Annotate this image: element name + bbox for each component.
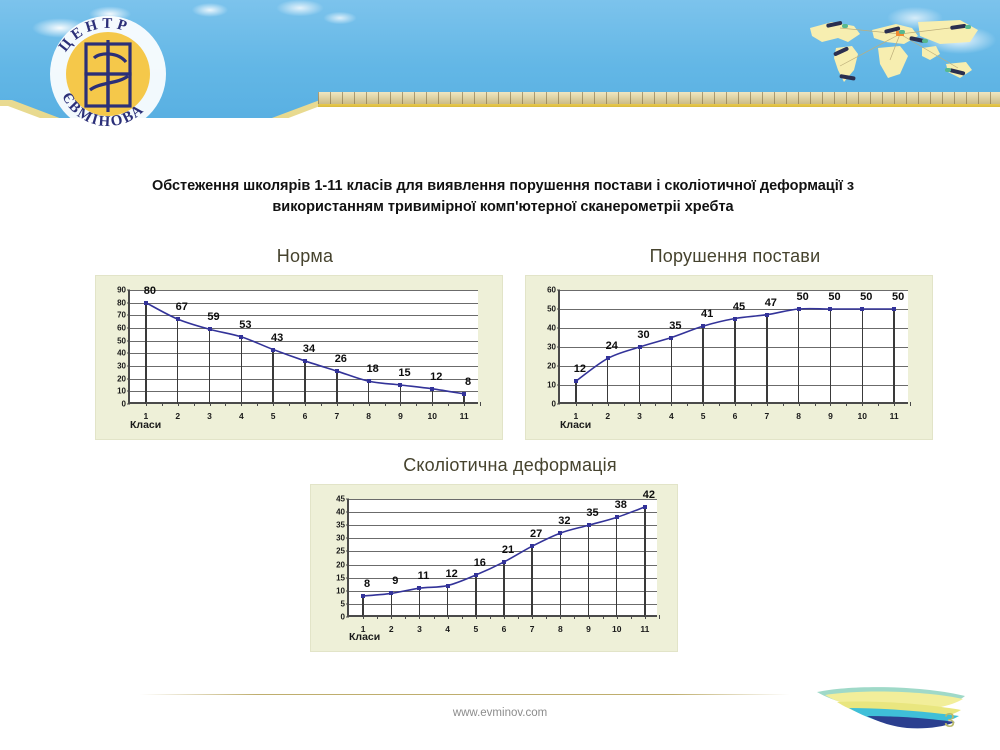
chart-skoliotychna-deformatsiya-plot-area: 0510152025303540458192113124165216277328… [347,499,657,617]
x-axis-tick-label: 3 [637,411,642,421]
x-axis-tick-label: 9 [586,624,591,634]
series-line [560,290,910,404]
chart-norma-plot-area: 0102030405060708090801672593534435346267… [128,290,478,404]
y-axis-tick-label: 20 [547,362,556,371]
y-axis-tick-label: 20 [117,374,126,383]
footer-divider [140,694,790,695]
x-axis-minor-tick-mark [910,402,911,406]
y-axis-tick-label: 10 [336,586,345,595]
x-axis-tick-label: 3 [207,411,212,421]
x-axis-tick-label: 8 [366,411,371,421]
y-axis-tick-label: 0 [552,400,556,409]
x-axis-tick-label: 8 [558,624,563,634]
page-title: Обстеження школярів 1-11 класів для вияв… [78,176,928,218]
y-axis-tick-label: 80 [117,298,126,307]
ruler-strip-decoration [318,92,1000,104]
y-axis-tick-label: 40 [547,324,556,333]
x-axis-tick-label: 11 [640,624,649,634]
y-axis-tick-label: 10 [547,381,556,390]
y-axis-tick-label: 30 [547,343,556,352]
x-axis-tick-label: 3 [417,624,422,634]
world-map-icon [800,8,990,92]
chart-porushennya-postavy: Порушення постави 0102030405060121242303… [525,246,945,440]
chart-porushennya-postavy-x-axis-caption: Класи [560,419,591,431]
chart-skoliotychna-deformatsiya: Сколіотична деформація 05101520253035404… [310,455,710,652]
chart-norma-title: Норма [95,246,515,267]
page-number: 3 [944,710,955,733]
x-axis-minor-tick-mark [480,402,481,406]
chart-porushennya-postavy-plot-area: 0102030405060121242303354415456477508509… [558,290,908,404]
x-axis-tick-label: 9 [398,411,403,421]
chart-norma-x-axis-caption: Класи [130,419,161,431]
x-axis-tick-label: 6 [733,411,738,421]
y-axis-tick-label: 50 [117,336,126,345]
y-axis-tick-label: 10 [117,387,126,396]
x-axis-tick-label: 9 [828,411,833,421]
x-axis-tick-label: 4 [239,411,244,421]
y-axis-tick-label: 5 [341,599,345,608]
y-axis-tick-label: 20 [336,560,345,569]
y-axis-tick-label: 60 [117,324,126,333]
x-axis-tick-label: 11 [460,411,469,421]
chart-norma: Норма 0102030405060708090801672593534435… [95,246,515,440]
chart-skoliotychna-deformatsiya-frame: 0510152025303540458192113124165216277328… [310,484,678,652]
x-axis-tick-label: 4 [445,624,450,634]
page-title-line-1: Обстеження школярів 1-11 класів для вияв… [78,176,928,197]
chart-porushennya-postavy-title: Порушення постави [525,246,945,267]
chart-norma-frame: 0102030405060708090801672593534435346267… [95,275,503,440]
y-axis-tick-label: 40 [117,349,126,358]
y-axis-tick-label: 25 [336,547,345,556]
evminov-center-logo-icon: ЦЕНТР ЄВМІНОВА [38,6,178,146]
y-axis-tick-label: 35 [336,521,345,530]
x-axis-tick-label: 2 [605,411,610,421]
x-axis-tick-label: 8 [796,411,801,421]
x-axis-tick-label: 5 [473,624,478,634]
x-axis-tick-label: 11 [890,411,899,421]
y-axis-tick-label: 0 [122,400,126,409]
y-axis-tick-label: 90 [117,286,126,295]
y-axis-tick-label: 40 [336,508,345,517]
x-axis-tick-label: 6 [303,411,308,421]
x-axis-tick-label: 6 [502,624,507,634]
y-axis-tick-label: 50 [547,305,556,314]
x-axis-tick-label: 10 [858,411,867,421]
y-axis-tick-label: 60 [547,286,556,295]
x-axis-tick-label: 10 [428,411,437,421]
x-axis-tick-label: 2 [389,624,394,634]
y-axis-tick-label: 15 [336,573,345,582]
y-axis-tick-label: 0 [341,613,345,622]
x-axis-tick-label: 10 [612,624,621,634]
x-axis-tick-label: 5 [701,411,706,421]
x-axis-tick-label: 7 [764,411,769,421]
x-axis-minor-tick-mark [659,615,660,619]
y-axis-tick-label: 70 [117,311,126,320]
chart-porushennya-postavy-frame: 0102030405060121242303354415456477508509… [525,275,933,440]
x-axis-tick-label: 7 [334,411,339,421]
x-axis-tick-label: 2 [175,411,180,421]
chart-skoliotychna-deformatsiya-title: Сколіотична деформація [310,455,710,476]
y-axis-tick-label: 30 [117,362,126,371]
x-axis-tick-label: 4 [669,411,674,421]
chart-skoliotychna-deformatsiya-x-axis-caption: Класи [349,631,380,643]
x-axis-tick-label: 7 [530,624,535,634]
y-axis-tick-label: 30 [336,534,345,543]
series-line [349,499,659,617]
x-axis-tick-label: 5 [271,411,276,421]
page-title-line-2: використанням тривимірної комп'ютерної с… [78,197,928,218]
series-line [130,290,480,404]
y-axis-tick-label: 45 [336,495,345,504]
